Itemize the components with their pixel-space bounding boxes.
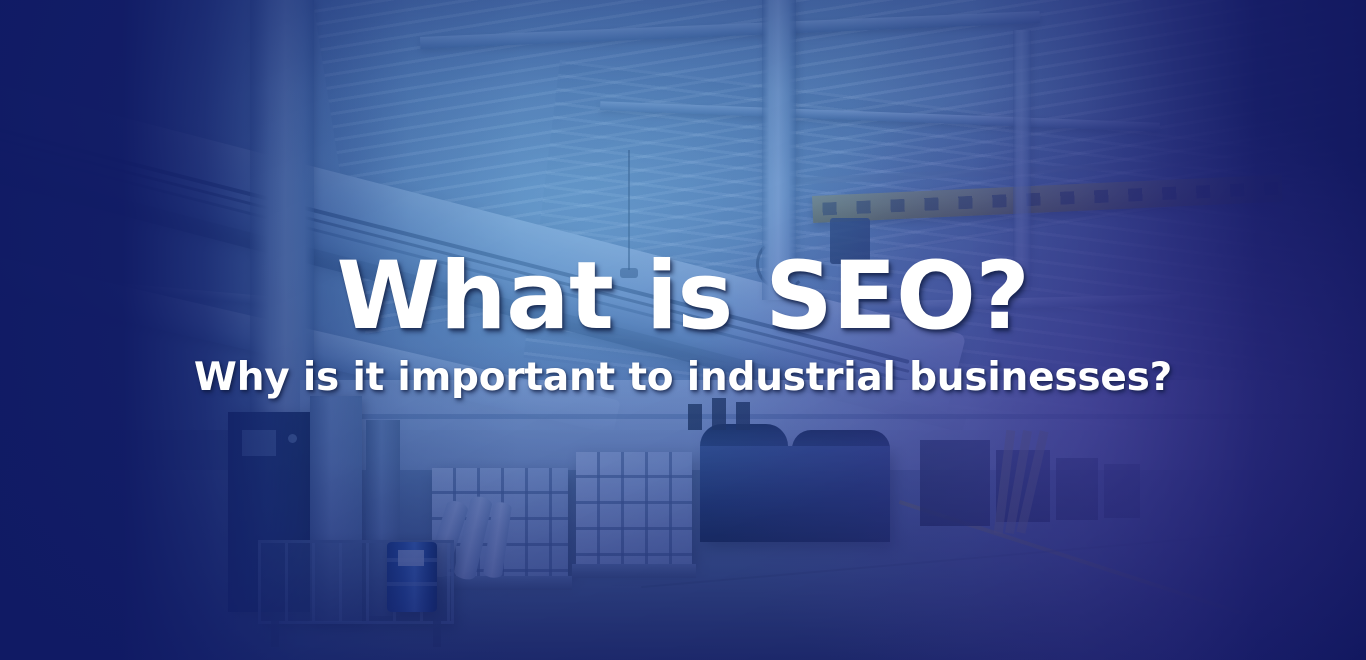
banner-text-block: What is SEO? Why is it important to indu… <box>0 250 1366 399</box>
hero-banner: What is SEO? Why is it important to indu… <box>0 0 1366 660</box>
banner-headline: What is SEO? <box>0 250 1366 344</box>
banner-subheadline: Why is it important to industrial busine… <box>0 358 1366 399</box>
